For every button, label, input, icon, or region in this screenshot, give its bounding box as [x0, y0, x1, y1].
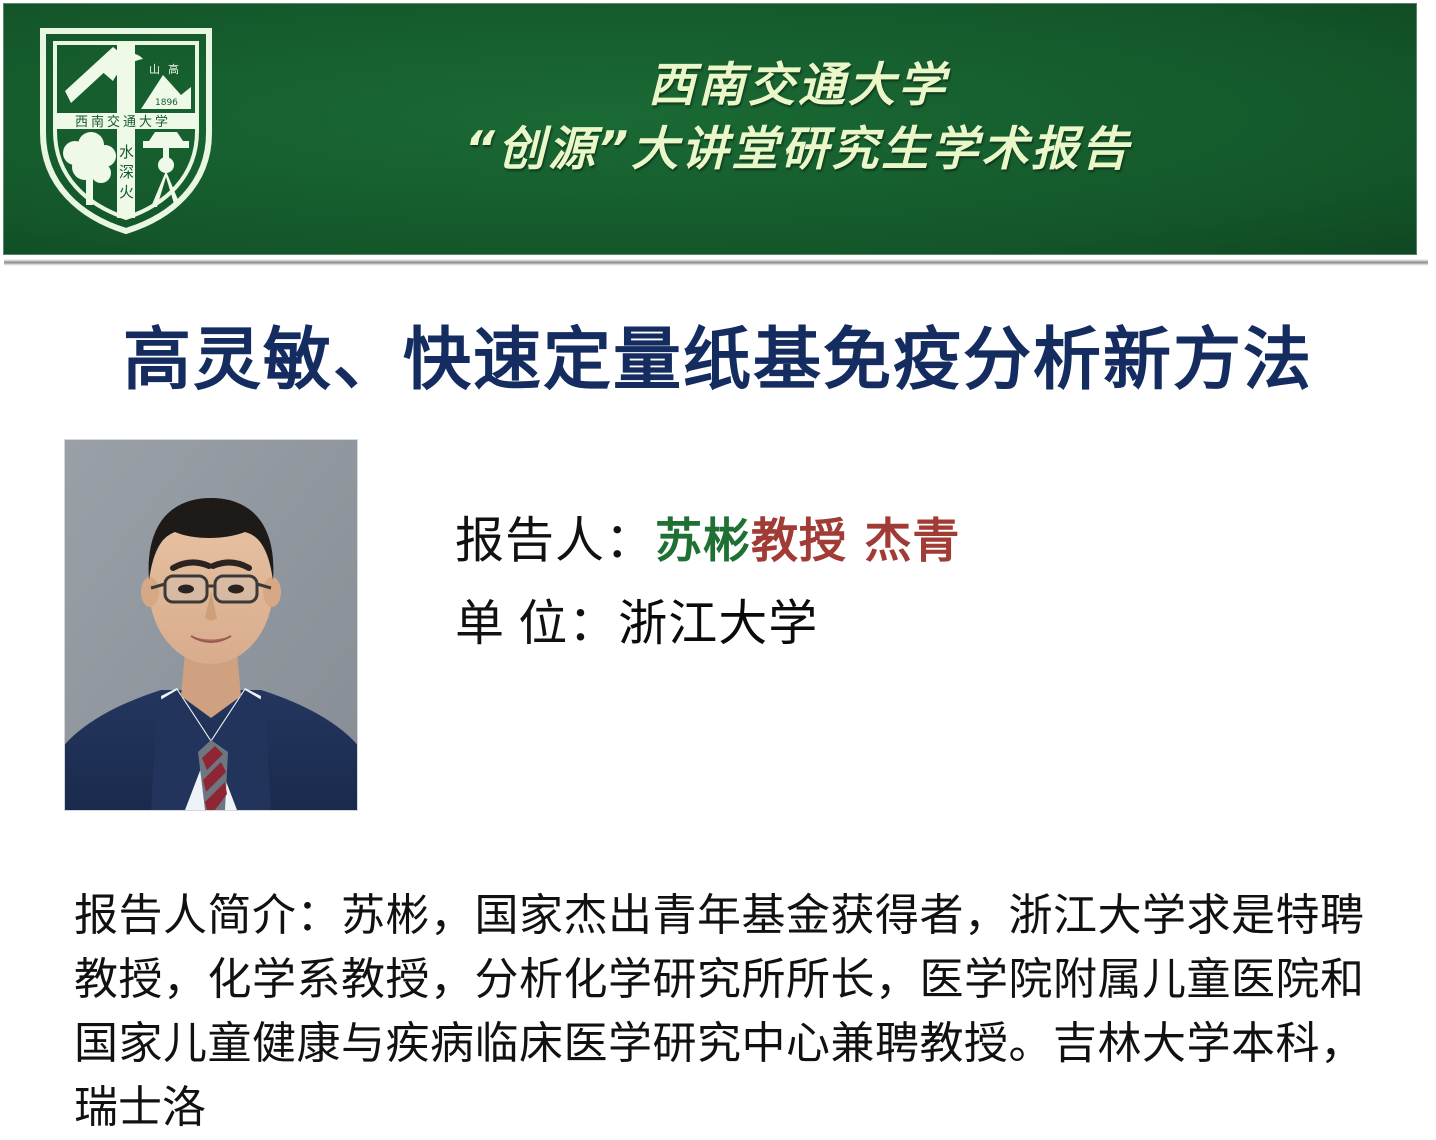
- banner-divider: [4, 259, 1428, 266]
- svg-text:1896: 1896: [155, 98, 178, 108]
- header-banner: 山 高 1896 西南交通大学 水 深 火: [0, 0, 1436, 268]
- speaker-titles: 教授 杰青: [751, 514, 960, 569]
- affiliation-row: 单 位：浙江大学: [455, 583, 1355, 665]
- speaker-label: 报告人：: [455, 513, 655, 568]
- banner-series-name: “创源”大讲堂研究生学术报告: [233, 117, 1363, 183]
- svg-text:水: 水: [119, 143, 134, 161]
- banner-background: 山 高 1896 西南交通大学 水 深 火: [3, 3, 1417, 255]
- affiliation-label: 单 位：: [455, 596, 618, 651]
- speaker-row: 报告人：苏彬教授 杰青: [455, 500, 1355, 583]
- svg-text:山: 山: [149, 63, 160, 76]
- svg-text:高: 高: [168, 62, 179, 76]
- speaker-biography: 报告人简介：苏彬，国家杰出青年基金获得者，浙江大学求是特聘教授，化学系教授，分析…: [74, 884, 1364, 1140]
- speaker-photo: [65, 440, 357, 810]
- affiliation-value: 浙江大学: [618, 596, 818, 651]
- svg-text:深: 深: [119, 163, 134, 181]
- speaker-info: 报告人：苏彬教授 杰青 单 位：浙江大学: [455, 500, 1355, 665]
- banner-university-name: 西南交通大学: [233, 55, 1363, 117]
- svg-text:火: 火: [119, 183, 134, 201]
- svg-text:西南交通大学: 西南交通大学: [75, 114, 171, 130]
- university-shield-icon: 山 高 1896 西南交通大学 水 深 火: [31, 25, 221, 237]
- banner-title-group: 西南交通大学 “创源”大讲堂研究生学术报告: [233, 55, 1363, 183]
- page-title: 高灵敏、快速定量纸基免疫分析新方法: [0, 318, 1436, 402]
- speaker-name: 苏彬: [655, 514, 751, 569]
